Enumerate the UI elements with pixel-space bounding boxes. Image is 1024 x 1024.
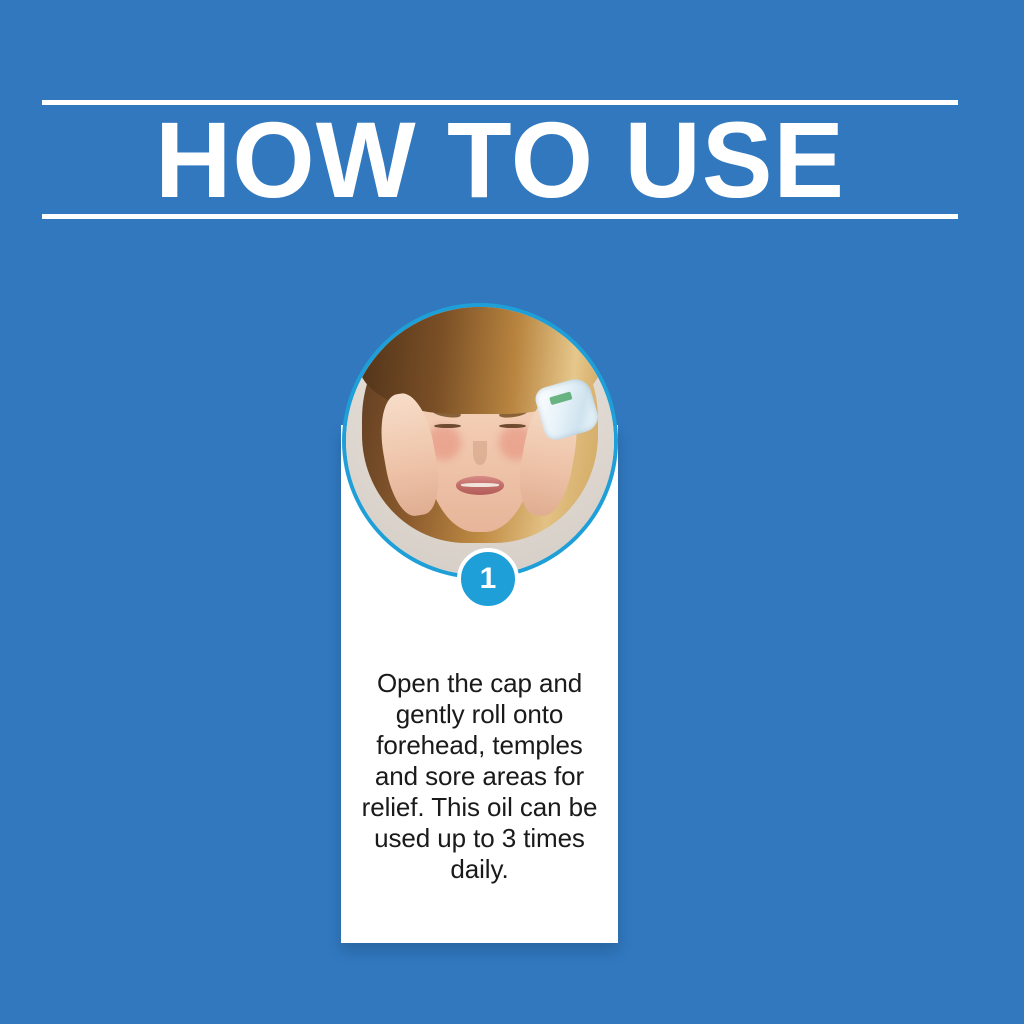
eye-right-shape	[499, 424, 526, 428]
eye-left-shape	[434, 424, 461, 428]
how-to-use-slide: { "canvas": { "width": 1024, "height": 1…	[0, 0, 1024, 1024]
step-photo-circle	[342, 303, 618, 579]
headache-illustration	[346, 307, 614, 575]
step-instruction-text: Open the cap and gently roll onto forehe…	[352, 668, 607, 885]
nose-shape	[473, 441, 486, 465]
teeth-shape	[461, 483, 499, 487]
page-title: HOW TO USE	[51, 105, 949, 214]
step-photo	[346, 307, 614, 575]
header: HOW TO USE	[42, 100, 958, 220]
step-number-badge: 1	[457, 548, 519, 610]
bottle-label-shape	[549, 391, 573, 405]
title-rule-bottom	[42, 214, 958, 219]
